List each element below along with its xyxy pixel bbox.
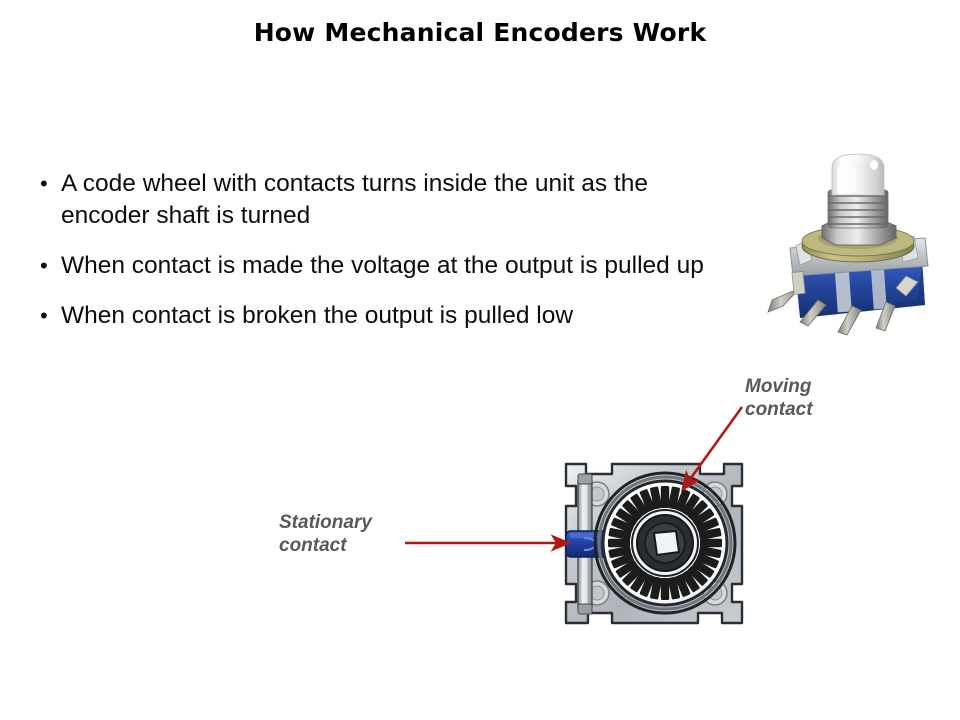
encoder-photo-body <box>795 258 925 318</box>
list-item: • When contact is broken the output is p… <box>38 300 738 332</box>
encoder-photo-hex-nut <box>822 219 896 245</box>
moving-contact-label: Moving contact <box>745 375 813 421</box>
encoder-photo-pins <box>768 271 918 335</box>
shaft-bore <box>654 531 679 555</box>
list-item: • When contact is made the voltage at th… <box>38 250 738 282</box>
moving-contact-arrow <box>683 407 742 489</box>
encoder-housing <box>566 464 742 623</box>
list-item: • A code wheel with contacts turns insid… <box>38 168 738 232</box>
bullet-glyph: • <box>40 250 48 282</box>
list-item-text: When contact is made the voltage at the … <box>61 252 704 279</box>
bullet-glyph: • <box>40 300 48 332</box>
encoder-cutaway-image <box>0 0 960 720</box>
list-item-text: A code wheel with contacts turns inside … <box>61 170 648 229</box>
stationary-contact-rail <box>578 474 592 614</box>
encoder-photo-washer <box>802 226 914 262</box>
encoder-photo-image <box>0 0 960 720</box>
page-title: How Mechanical Encoders Work <box>0 17 960 49</box>
code-wheel-teeth <box>608 486 722 600</box>
list-item-text: When contact is broken the output is pul… <box>61 302 573 329</box>
encoder-photo-bushing <box>828 190 888 228</box>
stationary-contact-label: Stationary contact <box>279 511 372 557</box>
bullet-glyph: • <box>40 168 48 200</box>
encoder-photo-frame <box>790 236 928 276</box>
bullet-list: • A code wheel with contacts turns insid… <box>38 168 738 350</box>
code-wheel <box>595 473 735 613</box>
stationary-contact-clip <box>566 531 610 557</box>
encoder-photo-shaft <box>832 154 884 195</box>
